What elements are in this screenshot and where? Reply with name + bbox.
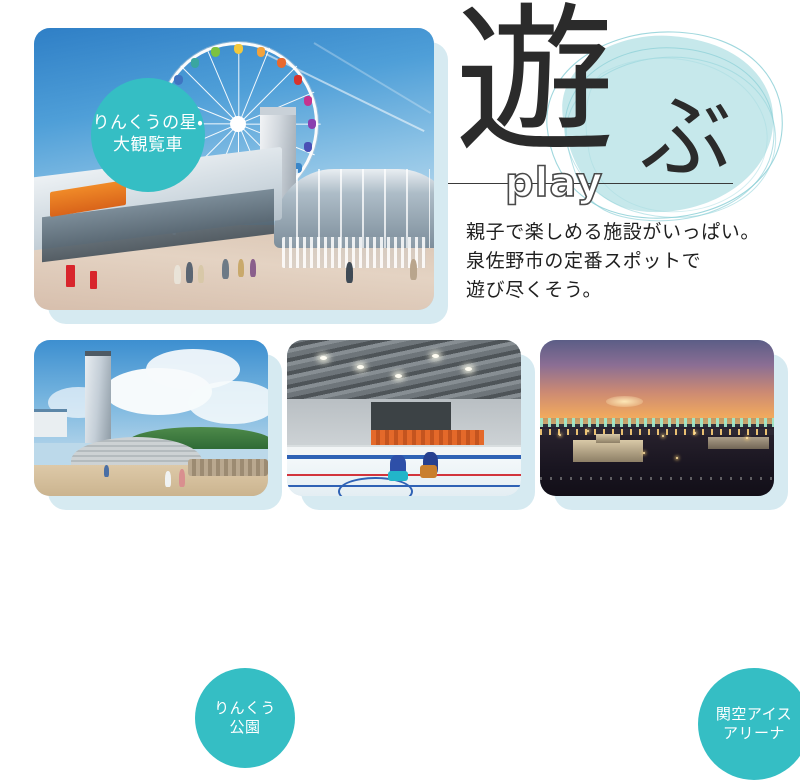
thumbnail-card-sky-view[interactable]: 関空展望ホール スカイビュー: [540, 340, 774, 496]
hero-badge-line-2: 大観覧車: [113, 135, 183, 157]
thumb2-badge-line-2: アリーナ: [723, 724, 785, 743]
thumb2-badge-line-1: 関空アイス: [716, 705, 792, 724]
body-copy-line-2: 泉佐野市の定番スポットで: [466, 247, 796, 276]
thumb1-badge-line-2: 公園: [229, 718, 260, 737]
ferris-wheel-gondola: [304, 96, 313, 106]
thumbnail-badge-label-ice-arena: 関空アイス アリーナ: [698, 668, 800, 780]
ferris-wheel-gondola: [234, 44, 243, 54]
ferris-wheel-gondola: [308, 119, 317, 129]
body-copy-line-3: 遊び尽くそう。: [466, 276, 796, 305]
hero-badge-label: りんくうの星・ 大観覧車: [91, 78, 205, 192]
thumbnail-card-ice-arena[interactable]: 関空アイス アリーナ: [287, 340, 521, 496]
thumbnail-badge-label-rinku-park: りんくう 公園: [195, 668, 295, 768]
ferris-wheel-gondola: [211, 47, 220, 57]
hero-badge-line-1: りんくうの星・: [93, 113, 204, 135]
title-romaji: play: [505, 160, 603, 206]
ferris-wheel-gondola: [191, 58, 200, 68]
ferris-wheel-gondola: [174, 75, 183, 85]
thumbnail-card-rinku-park[interactable]: りんくう 公園: [34, 340, 268, 496]
title-kanji: 遊: [455, 2, 615, 162]
thumbnail-photo-sky-view: [540, 340, 774, 496]
thumbnail-photo-rinku-park: [34, 340, 268, 496]
hero-photo-rinku-ferris-wheel: [34, 28, 434, 310]
runway-lights: [540, 418, 774, 427]
promo-banner: 遊 ぶ play 親子で楽しめる施設がいっぱい。 泉佐野市の定番スポットで 遊び…: [0, 0, 800, 515]
title-kana: ぶ: [640, 92, 732, 184]
body-copy: 親子で楽しめる施設がいっぱい。 泉佐野市の定番スポットで 遊び尽くそう。: [466, 218, 796, 305]
thumb1-badge-line-1: りんくう: [214, 699, 276, 718]
rinku-gate-tower: [85, 356, 111, 443]
ferris-wheel-gondola: [294, 75, 303, 85]
body-copy-line-1: 親子で楽しめる施設がいっぱい。: [466, 218, 796, 247]
hero-photo-card[interactable]: りんくうの星・ 大観覧車: [34, 28, 434, 310]
ferris-wheel-gondola: [277, 58, 286, 68]
thumbnail-photo-ice-arena: [287, 340, 521, 496]
